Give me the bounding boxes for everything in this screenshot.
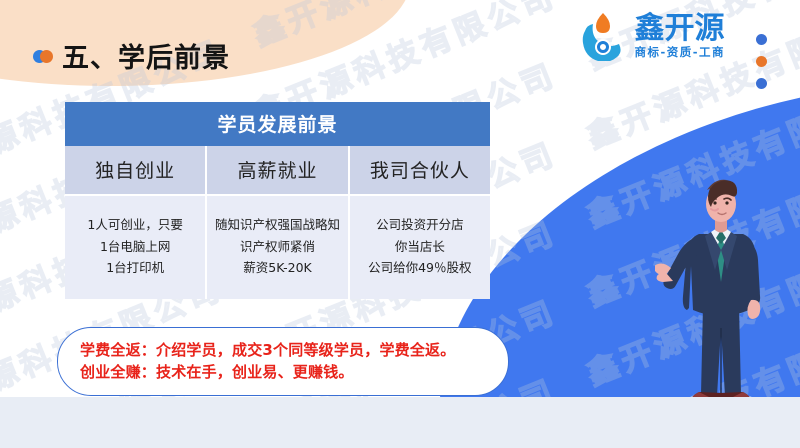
prospects-table: 学员发展前景 独自创业 高薪就业 我司合伙人 1人可创业，只要1台电脑上网1台打… [65, 102, 490, 299]
table-column-header: 高薪就业 [207, 146, 349, 194]
logo-subtitle: 商标-资质-工商 [634, 47, 725, 59]
brand-logo: 鑫开源 商标-资质-工商 [579, 11, 725, 61]
callout-line-2: 创业全赚：技术在手，创业易、更赚钱。 [80, 361, 490, 383]
decor-dot-2 [756, 56, 767, 67]
bullet-dot-orange [40, 50, 53, 63]
callout-line-1: 学费全返：介绍学员，成交3个同等级学员，学费全返。 [80, 339, 490, 361]
businessman-presenting-illustration [655, 178, 785, 397]
decor-dot-stack [756, 34, 767, 100]
table-title: 学员发展前景 [65, 102, 490, 146]
logo-name: 鑫开源 [634, 14, 725, 44]
title-bullet-icon [33, 50, 55, 63]
table-header-row: 独自创业 高薪就业 我司合伙人 [65, 146, 490, 196]
table-row: 1人可创业，只要1台电脑上网1台打印机 随知识产权强国战略知识产权师紧俏薪资5K… [65, 196, 490, 299]
slide-root: 鑫开源科技有限公司 鑫开源科技有限公司 鑫开源科技有限公司 鑫开源科技有限公司 … [0, 0, 800, 448]
person-droplet-logo-icon [579, 11, 627, 61]
highlight-callout: 学费全返：介绍学员，成交3个同等级学员，学费全返。 创业全赚：技术在手，创业易、… [57, 327, 509, 396]
table-cell: 随知识产权强国战略知识产权师紧俏薪资5K-20K [207, 196, 349, 299]
page-title: 五、学后前景 [62, 36, 230, 75]
decor-dot-1 [756, 34, 767, 45]
logo-text-block: 鑫开源 商标-资质-工商 [634, 14, 725, 59]
table-column-header: 我司合伙人 [350, 146, 490, 194]
slide-canvas: 鑫开源科技有限公司 鑫开源科技有限公司 鑫开源科技有限公司 鑫开源科技有限公司 … [0, 0, 800, 397]
decor-dot-3 [756, 78, 767, 89]
table-cell: 1人可创业，只要1台电脑上网1台打印机 [65, 196, 207, 299]
table-column-header: 独自创业 [65, 146, 207, 194]
table-cell: 公司投资开分店你当店长公司给你49％股权 [350, 196, 490, 299]
